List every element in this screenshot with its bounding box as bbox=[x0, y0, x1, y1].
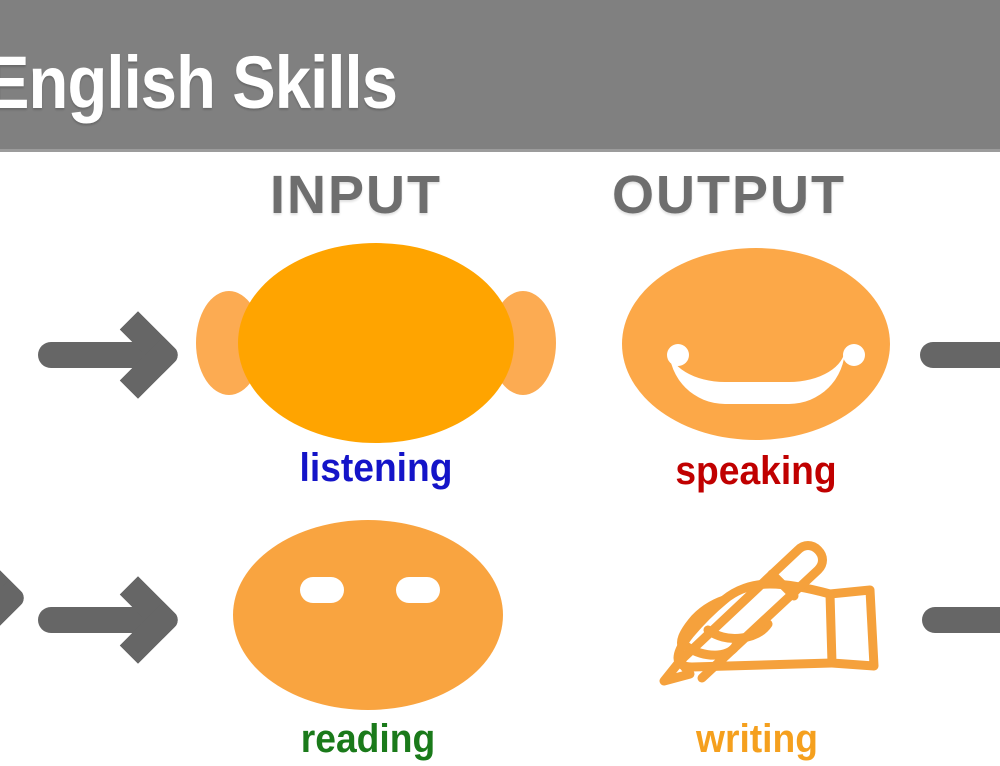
ear-head-icon bbox=[196, 243, 556, 443]
mouth-face-icon bbox=[622, 248, 890, 440]
skill-label-listening: listening bbox=[209, 447, 544, 489]
eye-left-shape bbox=[300, 577, 344, 603]
banner-bottom-edge bbox=[0, 149, 1000, 152]
skill-label-writing: writing bbox=[622, 718, 892, 760]
arrow-head bbox=[0, 554, 28, 642]
column-heading-output: OUTPUT bbox=[612, 168, 846, 222]
mouth-shape bbox=[669, 348, 845, 404]
eye-right-shape bbox=[396, 577, 440, 603]
arrow-left-row1 bbox=[38, 313, 188, 397]
head-shape bbox=[238, 243, 514, 443]
page-title: English Skills bbox=[0, 46, 397, 120]
arrow-right-row1 bbox=[920, 313, 1000, 397]
skill-label-speaking: speaking bbox=[631, 450, 880, 492]
arrow-right-row2 bbox=[922, 578, 1000, 662]
mouth-corner-left bbox=[667, 344, 689, 366]
hand-pencil-icon bbox=[612, 518, 902, 688]
infographic-canvas: English Skills INPUT OUTPUT listening sp… bbox=[0, 0, 1000, 766]
arrow-head bbox=[976, 311, 1000, 399]
mouth-corner-right bbox=[843, 344, 865, 366]
arrow-clipped-row2-far-left bbox=[0, 556, 12, 640]
skill-label-reading: reading bbox=[242, 718, 493, 760]
column-heading-input: INPUT bbox=[270, 168, 442, 222]
arrow-head bbox=[978, 576, 1000, 664]
arrow-head bbox=[94, 576, 182, 664]
arrow-head bbox=[94, 311, 182, 399]
arrow-left-row2 bbox=[38, 578, 188, 662]
eyes-face-icon bbox=[233, 520, 503, 710]
